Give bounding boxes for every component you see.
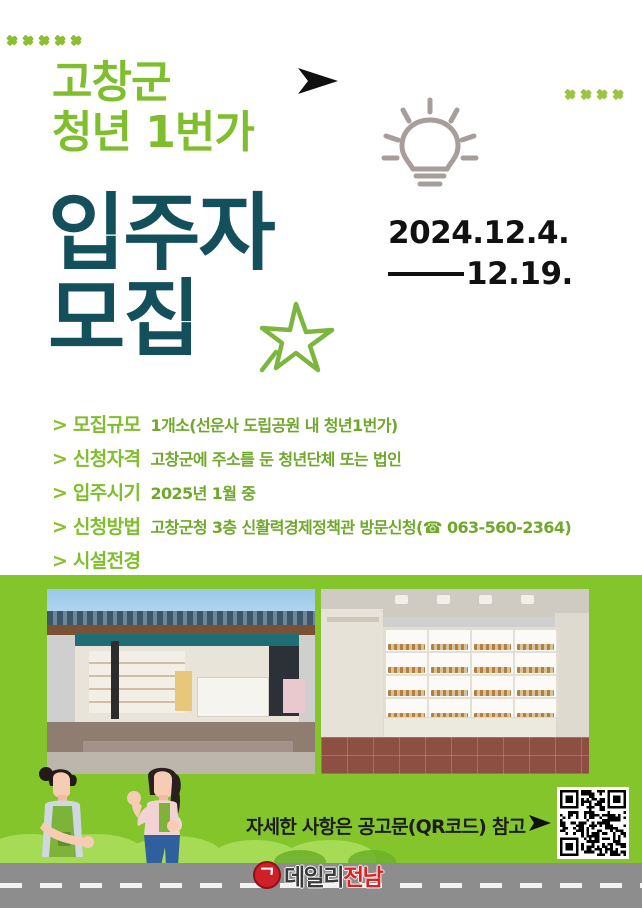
detail-label: 시설전경 — [73, 546, 141, 573]
chevron-right-icon — [566, 80, 579, 106]
period-end-row: 12.19. — [388, 257, 573, 291]
detail-value: 고창군에 주소를 둔 청년단체 또는 법인 — [150, 446, 401, 470]
logo-badge-icon: ᄀ — [253, 861, 281, 889]
page-title: 입주자 모집 — [48, 190, 274, 362]
chevron-right-icon — [598, 80, 611, 106]
list-item: > 신청자격 고창군에 주소를 둔 청년단체 또는 법인 — [52, 444, 632, 471]
poster-subtitle: 고창군 청년 1번가 — [52, 58, 254, 158]
publisher-logo: ᄀ 데일리 전남 — [253, 858, 382, 892]
chevron-right-icon — [582, 80, 595, 106]
character-illustration — [20, 762, 230, 866]
detail-label: 입주시기 — [73, 478, 141, 505]
chevron-right-icon — [40, 26, 53, 52]
chevron-right-icon — [8, 26, 21, 52]
list-item: > 입주시기 2025년 1월 중 — [52, 478, 632, 505]
list-item: > 모집규모 1개소(선운사 도립공원 내 청년1번가) — [52, 410, 632, 437]
detail-label: 신청방법 — [73, 512, 141, 539]
logo-text-jeonnam: 전남 — [343, 858, 382, 892]
facility-photo-interior — [321, 589, 589, 774]
qr-code-canvas — [560, 790, 626, 856]
period-start-date: 2024.12.4. — [388, 215, 573, 251]
bullet-chevron-icon: > — [52, 552, 68, 571]
detail-label: 신청자격 — [73, 444, 141, 471]
arrow-right-icon — [527, 812, 553, 834]
logo-text-daily: 데일리 — [284, 858, 343, 892]
bullet-chevron-icon: > — [52, 416, 68, 435]
qr-code[interactable] — [557, 787, 629, 859]
list-item: > 신청방법 고창군청 3층 신활력경제정책관 방문신청(☎ 063-560-2… — [52, 512, 632, 539]
chevron-right-icon — [72, 26, 85, 52]
recruitment-period: 2024.12.4. 12.19. — [388, 215, 573, 291]
facility-photo-exterior — [47, 589, 315, 774]
period-dash — [388, 272, 464, 276]
character-shopkeeper — [39, 767, 94, 857]
character-visitor — [127, 768, 182, 866]
detail-value: 고창군청 3층 신활력경제정책관 방문신청(☎ 063-560-2364) — [150, 514, 571, 538]
star-doodle-icon — [252, 298, 338, 376]
chevron-right-icon — [614, 80, 627, 106]
chevron-group-right — [566, 80, 627, 106]
chevron-group-left — [8, 26, 85, 52]
detail-value: 1개소(선운사 도립공원 내 청년1번가) — [150, 412, 397, 436]
cta-label: 자세한 사항은 공고문(QR코드) 참고 — [246, 812, 525, 839]
bullet-chevron-icon: > — [52, 450, 68, 469]
detail-value: 2025년 1월 중 — [150, 480, 255, 504]
chevron-right-icon — [56, 26, 69, 52]
list-item: > 시설전경 — [52, 546, 632, 573]
chevron-right-icon — [24, 26, 37, 52]
poster-root: 고창군 청년 1번가 입주자 모집 2024.12.4. — [0, 0, 642, 908]
recruitment-details-list: > 모집규모 1개소(선운사 도립공원 내 청년1번가) > 신청자격 고창군에… — [52, 410, 632, 580]
bullet-chevron-icon: > — [52, 518, 68, 537]
lightbulb-icon — [372, 96, 488, 194]
period-end-date: 12.19. — [466, 257, 573, 291]
bullet-chevron-icon: > — [52, 484, 68, 503]
detail-label: 모집규모 — [73, 410, 141, 437]
arrow-right-icon — [292, 60, 344, 100]
